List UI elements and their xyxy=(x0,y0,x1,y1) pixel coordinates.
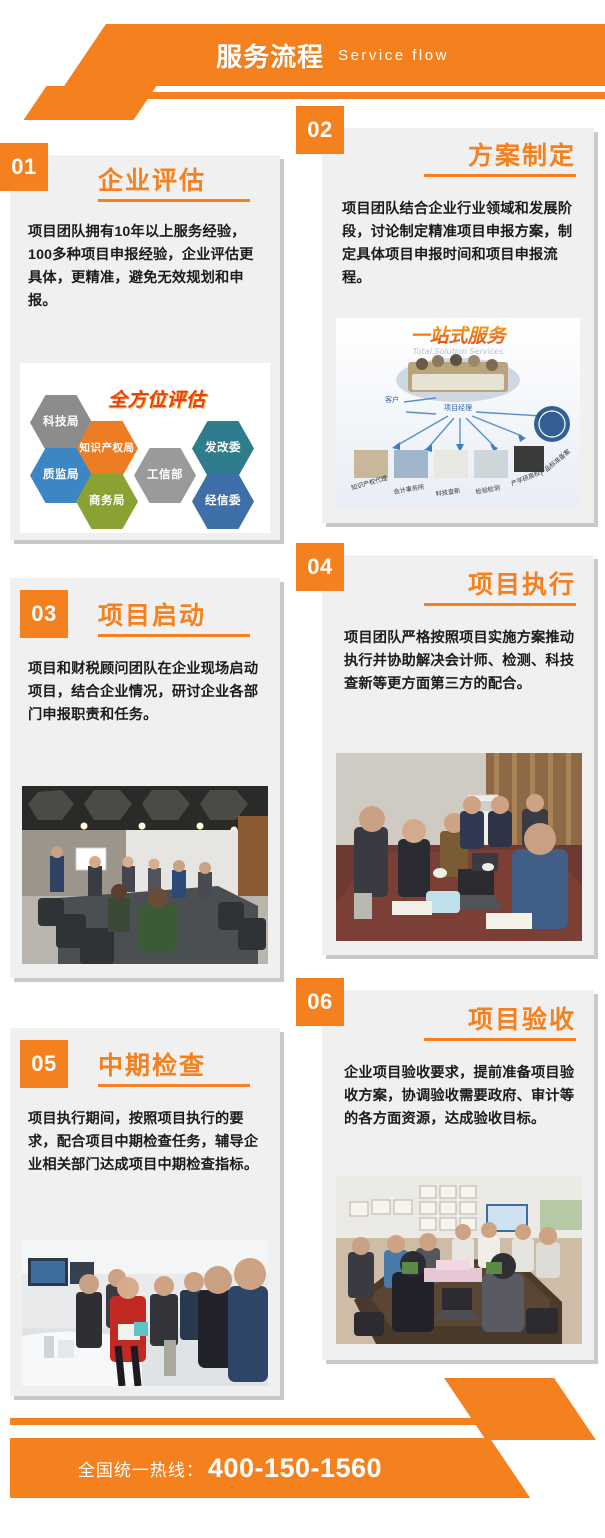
hex-node-gxb: 工信部 xyxy=(134,448,196,503)
step-number-badge: 05 xyxy=(20,1040,68,1088)
hotline-number[interactable]: 400-150-1560 xyxy=(208,1453,382,1484)
figure-title: 全方位评估 xyxy=(108,385,206,412)
step-card-04: 04 项目执行 项目团队严格按照项目实施方案推动执行并协助解决会计师、检测、科技… xyxy=(322,555,594,955)
step-description: 项目团队拥有10年以上服务经验，100多种项目申报经验，企业评估更具体，更精准，… xyxy=(28,221,264,313)
step-description: 项目执行期间，按照项目执行的要求，配合项目中期检查任务，辅导企业相关部门达成项目… xyxy=(28,1108,264,1177)
step-description: 项目团队严格按照项目实施方案推动执行并协助解决会计师、检测、科技查新等更方面第三… xyxy=(344,627,576,696)
step-title: 项目执行 xyxy=(468,565,576,601)
hex-node-fgw: 发改委 xyxy=(192,421,254,476)
showroom-visit-photo xyxy=(22,1240,268,1386)
title-underline xyxy=(424,1038,576,1041)
diagram-client-label: 客户 xyxy=(385,395,399,404)
hex-node-jxw: 经信委 xyxy=(192,474,254,529)
step-title: 项目验收 xyxy=(468,1000,576,1036)
page-footer: 全国统一热线： 400-150-1560 xyxy=(0,1418,605,1538)
working-meeting-photo xyxy=(336,753,582,941)
step-title: 中期检查 xyxy=(98,1046,206,1082)
step-photo xyxy=(336,1176,582,1344)
step-card-01: 01 企业评估 项目团队拥有10年以上服务经验，100多种项目申报经验，企业评估… xyxy=(10,155,280,540)
figure-title: 一站式服务 xyxy=(410,325,508,347)
step-number-badge: 02 xyxy=(296,106,344,154)
service-flow-page: 服务流程 Service flow 01 企业评估 项目团队拥有10年以上服务经… xyxy=(0,0,605,1538)
footer-accent-line xyxy=(10,1418,435,1425)
step-title: 项目启动 xyxy=(98,596,206,632)
title-underline xyxy=(98,634,250,637)
title-underline xyxy=(424,174,576,177)
one-stop-service-figure: 项目经理 客户 xyxy=(336,318,580,508)
step-description: 项目团队结合企业行业领域和发展阶段，讨论制定精准项目申报方案，制定具体项目申报时… xyxy=(342,198,578,290)
assessment-hexagon-figure: 全方位评估 科技局 知识产权局 发改委 质监局 工信部 商务局 经信委 xyxy=(20,363,270,533)
step-photo xyxy=(22,1240,268,1386)
step-number-badge: 04 xyxy=(296,543,344,591)
step-description: 企业项目验收要求，提前准备项目验收方案，协调验收需要政府、审计等的各方面资源，达… xyxy=(344,1062,576,1131)
step-number-badge: 06 xyxy=(296,978,344,1026)
step-number-badge: 01 xyxy=(0,143,48,191)
header-accent-line-diagonal xyxy=(116,92,191,99)
step-description: 项目和财税顾问团队在企业现场启动项目，结合企业情况，研讨企业各部门申报职责和任务… xyxy=(28,658,264,727)
header-banner-bar xyxy=(150,24,605,86)
hotline-group: 全国统一热线： 400-150-1560 xyxy=(10,1438,450,1498)
title-underline xyxy=(98,1084,250,1087)
footer-banner-tail xyxy=(444,1378,596,1440)
figure-subtitle: Total Solution Services xyxy=(413,347,503,356)
step-photo xyxy=(22,786,268,964)
step-title: 企业评估 xyxy=(98,161,206,197)
step-card-06: 06 项目验收 企业项目验收要求，提前准备项目验收方案，协调验收需要政府、审计等… xyxy=(322,990,594,1360)
page-header: 服务流程 Service flow xyxy=(0,0,605,112)
title-underline xyxy=(98,199,250,202)
acceptance-meeting-photo xyxy=(336,1176,582,1344)
step-card-02: 02 方案制定 项目团队结合企业行业领域和发展阶段，讨论制定精准项目申报方案，制… xyxy=(322,128,594,523)
step-card-03: 03 项目启动 项目和财税顾问团队在企业现场启动项目，结合企业情况，研讨企业各部… xyxy=(10,578,280,978)
step-number-badge: 03 xyxy=(20,590,68,638)
meeting-room-photo xyxy=(22,786,268,964)
hotline-label: 全国统一热线： xyxy=(78,1456,204,1481)
diagram-center-label: 项目经理 xyxy=(444,403,472,412)
title-underline xyxy=(424,603,576,606)
step-card-05: 05 中期检查 项目执行期间，按照项目执行的要求，配合项目中期检查任务，辅导企业… xyxy=(10,1028,280,1396)
service-diagram-svg: 项目经理 客户 xyxy=(336,318,580,508)
step-title: 方案制定 xyxy=(468,136,576,172)
header-accent-line xyxy=(160,92,605,99)
step-photo xyxy=(336,753,582,941)
